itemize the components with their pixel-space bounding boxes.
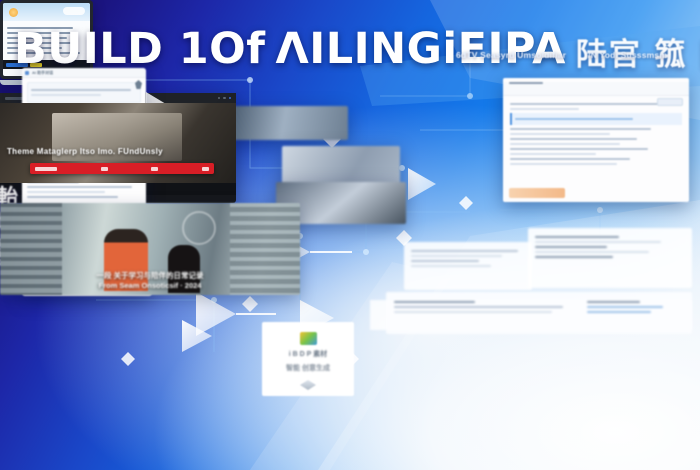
asset-card-subtitle: 智能 创意生成 [262,363,354,373]
photo-subtitle-line-2: From Seam Onsoticsif · 2024 [0,281,300,290]
gallery-icon [300,332,317,345]
reference-left-column [394,298,577,328]
fullscreen-icon[interactable] [202,167,209,171]
doc-callout [510,113,682,125]
reference-right-column [587,298,684,328]
chat-panel-header: AI 助手对话 [22,68,146,78]
document-editor-panel[interactable] [503,78,689,202]
video-overlay-text: Theme Mataglerp Itso Imo. FUndUnsly [7,147,163,156]
headline-subtitle-right: /N Yodi Susssmsm [588,50,667,60]
bubble-tail [58,295,70,296]
subtitle-icon[interactable] [151,167,158,171]
ceiling-fan-icon [182,211,216,245]
volume-icon[interactable] [101,167,108,171]
library-scene-photo[interactable]: 一段 关于学习与陪伴的日常记录 From Seam Onsoticsif · 2… [0,203,300,295]
video-stage[interactable]: Theme Mataglerp Itso Imo. FUndUnsly [0,103,236,183]
reference-block[interactable] [386,292,692,334]
photo-strip-a[interactable] [232,106,348,140]
headline-block: BUILD 1Of ΛILINGiEIPA 陆官 箛 閜 期 价 蕗 [14,17,690,71]
video-control-bar[interactable] [30,163,214,174]
asset-card-title: i B D P 素材 [262,349,354,359]
headline-subtitle: 6dTV Seasyrd Umsoldifiar /N Yodi Susssms… [456,50,667,60]
doc-highlight-band [509,188,565,198]
asset-card[interactable]: i B D P 素材 智能 创意生成 [262,322,354,396]
sidebar-summary-block[interactable] [528,228,692,288]
promo-collage-canvas: BUILD 1Of ΛILINGiEIPA 陆官 箛 閜 期 价 蕗 6dTV … [0,0,700,470]
doc-panel-body [503,96,689,172]
screen-hero-image [3,3,90,21]
headline-main: BUILD 1Of [14,28,265,71]
generate-button[interactable] [657,98,683,106]
headline-subtitle-left: 6dTV Seasyrd Umsoldifiar [456,50,566,60]
cloud-icon [63,7,85,15]
doc-panel-toolbar [503,82,689,96]
chat-app-icon [25,71,29,75]
notes-block[interactable] [404,242,532,290]
photo-subtitle: 一段 关于学习与陪伴的日常记录 From Seam Onsoticsif · 2… [0,270,300,290]
sun-icon [9,8,18,17]
play-button[interactable] [35,167,57,171]
diamond-icon [300,380,316,390]
chat-panel-title: AI 助手对话 [32,70,53,76]
photo-subtitle-line-1: 一段 关于学习与陪伴的日常记录 [0,270,300,281]
chat-message [27,82,141,103]
